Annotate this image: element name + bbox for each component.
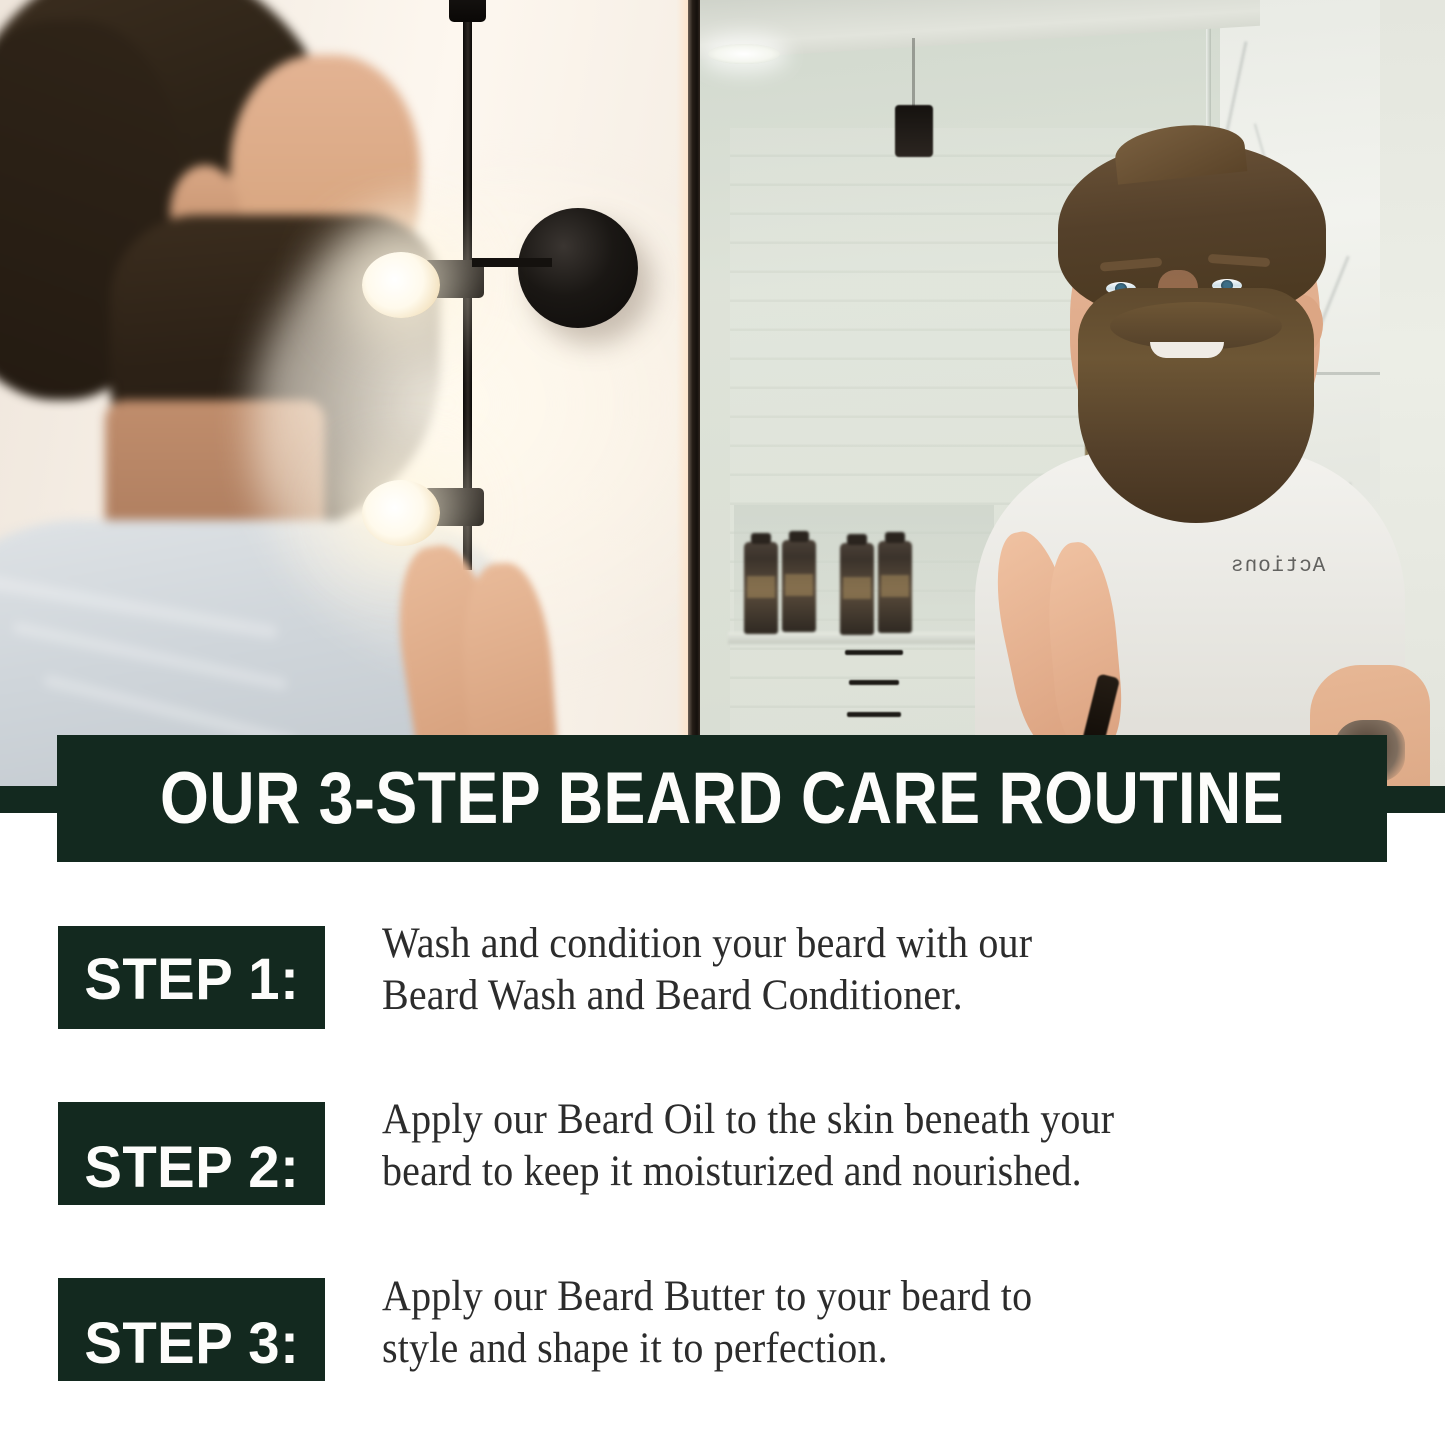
- step-3-text: Apply our Beard Butter to your beard to …: [382, 1271, 1321, 1376]
- step-1-text: Wash and condition your beard with our B…: [382, 918, 1321, 1023]
- product-bottle: [840, 543, 874, 635]
- shower-fixture-rod: [912, 38, 915, 108]
- step-2-label: STEP 2:: [84, 1139, 299, 1197]
- step-2-line-2: beard to keep it moisturized and nourish…: [382, 1146, 1321, 1198]
- shower-shelf-bracket: [845, 650, 905, 730]
- shower-fixture: [895, 105, 933, 157]
- step-1-label: STEP 1:: [84, 951, 299, 1009]
- step-1-line-1: Wash and condition your beard with our: [382, 918, 1321, 970]
- step-1-line-2: Beard Wash and Beard Conditioner.: [382, 970, 1321, 1022]
- step-3-label: STEP 3:: [84, 1315, 299, 1373]
- product-bottle: [878, 541, 912, 633]
- step-2-badge: STEP 2:: [58, 1102, 325, 1205]
- hero-photo: Actions: [0, 0, 1445, 790]
- sconce-top-socket: [449, 0, 486, 22]
- shirt-text: Actions: [1230, 555, 1325, 578]
- step-1-badge: STEP 1:: [58, 926, 325, 1029]
- mirror-reflection: Actions: [700, 0, 1445, 790]
- reflected-man: Actions: [950, 120, 1420, 790]
- infographic-page: Actions: [0, 0, 1445, 1445]
- step-3-badge: STEP 3:: [58, 1278, 325, 1381]
- reflected-smile: [1150, 342, 1224, 358]
- light-bulb-upper: [362, 252, 440, 318]
- reflected-praying-hands: [1005, 530, 1130, 760]
- sconce-bracket: [472, 258, 552, 267]
- product-bottle: [744, 542, 778, 634]
- steps-list: STEP 1: Wash and condition your beard wi…: [0, 862, 1445, 1445]
- step-2-line-1: Apply our Beard Oil to the skin beneath …: [382, 1094, 1321, 1146]
- wall-sconce: [430, 0, 690, 610]
- ceiling-downlight-icon: [708, 44, 780, 64]
- light-bulb-lower: [362, 480, 440, 546]
- step-3-line-1: Apply our Beard Butter to your beard to: [382, 1271, 1321, 1323]
- page-title: OUR 3-STEP BEARD CARE ROUTINE: [150, 735, 1294, 862]
- sconce-backplate: [518, 208, 638, 328]
- step-3-line-2: style and shape it to perfection.: [382, 1323, 1321, 1375]
- product-bottle: [782, 540, 816, 632]
- step-2-text: Apply our Beard Oil to the skin beneath …: [382, 1094, 1321, 1199]
